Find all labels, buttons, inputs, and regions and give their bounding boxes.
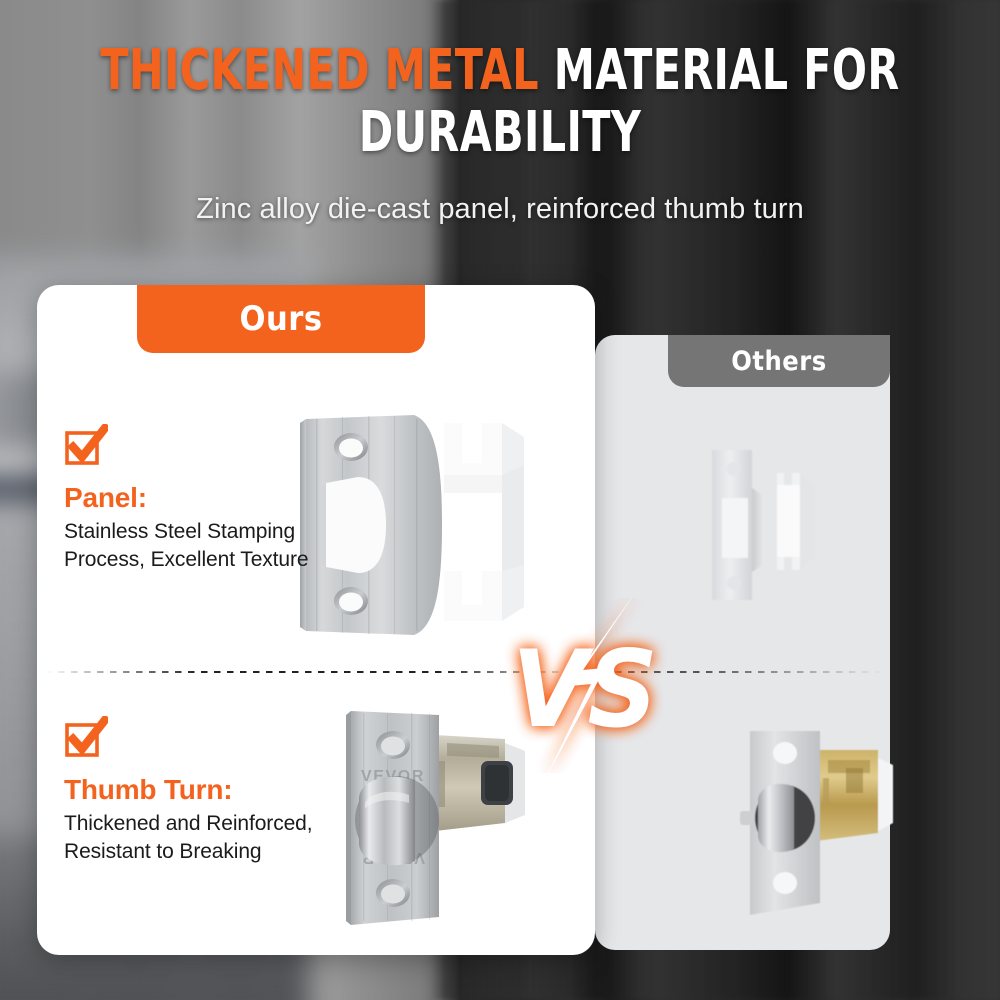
others-card-divider	[602, 671, 884, 673]
checkbox-checked-icon	[64, 424, 108, 468]
feature-panel-title: Panel:	[64, 482, 334, 514]
others-badge-label: Others	[731, 346, 826, 377]
feature-thumb-turn-description: Thickened and Reinforced, Resistant to B…	[64, 810, 334, 866]
others-strike-plate-image	[700, 440, 875, 625]
ours-badge: Ours	[137, 285, 425, 353]
ours-latch-image: VEVOR VEVOR	[335, 703, 550, 938]
others-latch-image	[728, 723, 918, 923]
checkbox-checked-icon	[64, 716, 108, 760]
feature-panel-block: Panel: Stainless Steel Stamping Process,…	[64, 424, 334, 574]
ours-card-divider	[45, 671, 590, 673]
product-comparison-infographic: THICKENED METAL MATERIAL FOR DURABILITY …	[0, 0, 1000, 1000]
feature-thumb-turn-block: Thumb Turn: Thickened and Reinforced, Re…	[64, 716, 334, 866]
page-subheadline: Zinc alloy die-cast panel, reinforced th…	[0, 193, 1000, 226]
headline-accent-text: THICKENED METAL	[100, 38, 539, 103]
page-headline: THICKENED METAL MATERIAL FOR DURABILITY	[90, 40, 910, 164]
feature-thumb-turn-title: Thumb Turn:	[64, 774, 334, 806]
feature-panel-description: Stainless Steel Stamping Process, Excell…	[64, 518, 334, 574]
ours-badge-label: Ours	[239, 299, 322, 339]
others-badge: Others	[668, 335, 890, 387]
